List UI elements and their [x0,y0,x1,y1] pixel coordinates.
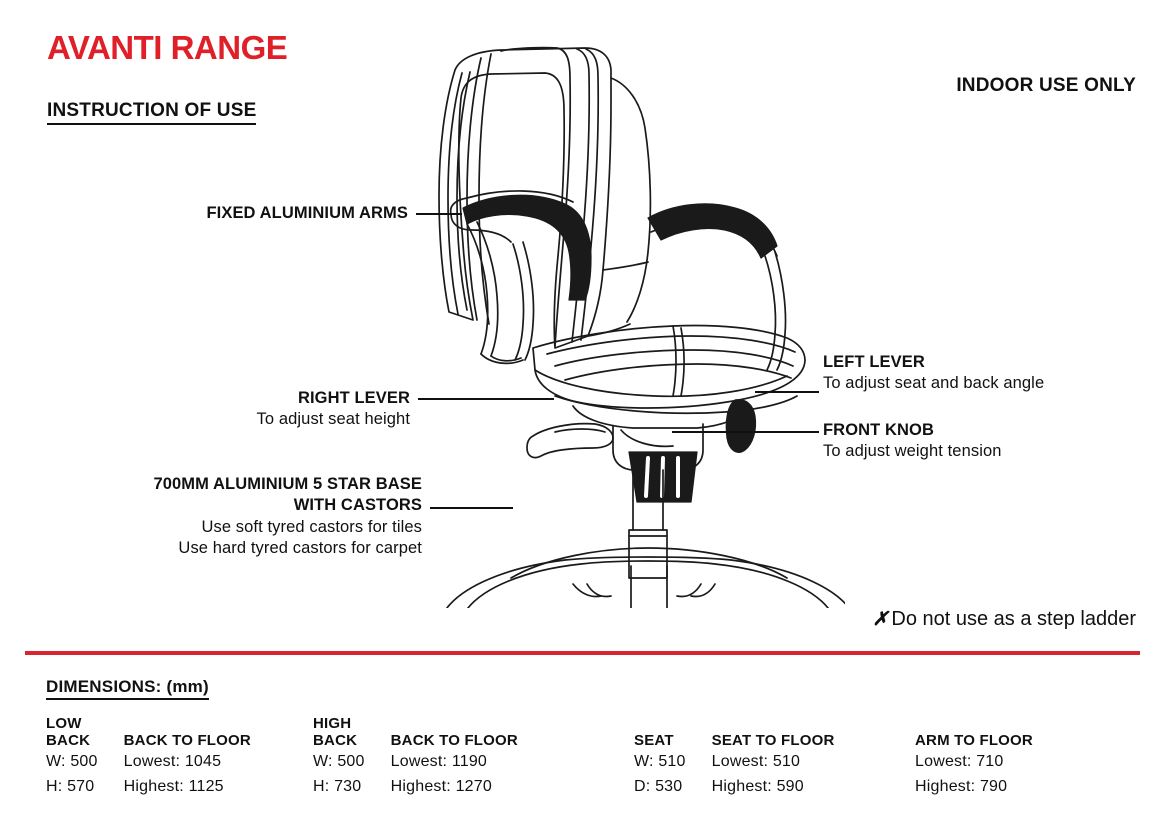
knob-rib-1 [646,458,648,496]
seat-cushion-seam-top [547,336,795,354]
callout-base-description-line1: Use soft tyred castors for tiles [0,517,422,538]
callout-arms-label: FIXED ALUMINIUM ARMS [0,203,408,224]
dimension-key: Highest: [124,775,184,800]
dimension-value: 730 [334,778,361,795]
leader-line-right-lever [418,398,554,400]
dimension-value: 500 [337,753,364,770]
dimension-col-seat-to-floor: SEAT TO FLOOR Lowest: 510 Highest: 590 [712,716,835,800]
dimension-value-row: Highest: 590 [712,775,835,800]
arm-support-right-inner [775,252,786,370]
leader-line-base [430,507,513,509]
callout-left-lever-label: LEFT LEVER [823,352,1044,373]
leader-line-arms [416,213,462,215]
dimension-col-high-back-primary: HIGH BACK W: 500 H: 730 [313,716,365,800]
instruction-sheet: AVANTI RANGE INSTRUCTION OF USE INDOOR U… [0,0,1166,815]
dimension-value: 1190 [452,753,487,770]
dimension-sub-heading: BACK TO FLOOR [391,716,518,750]
callout-left-lever: LEFT LEVER To adjust seat and back angle [823,352,1044,395]
dimension-value: 1270 [456,778,492,795]
dimension-key: H: [46,775,62,800]
dimension-value: 570 [67,778,94,795]
leader-line-left-lever [755,391,819,393]
section-divider [25,651,1140,655]
dimension-sub-heading: SEAT TO FLOOR [712,716,835,750]
leader-line-front-knob [672,431,819,433]
dimension-key: D: [634,775,650,800]
dimensions-row: LOW BACK W: 500 H: 570 BACK TO FLOOR Low… [0,716,1166,806]
callout-base: 700MM ALUMINIUM 5 STAR BASE WITH CASTORS… [0,474,422,560]
dimension-col-arm-to-floor: ARM TO FLOOR Lowest: 710 Highest: 790 [915,716,1033,800]
dimension-key: Lowest: [124,750,181,775]
dimension-key: H: [313,775,329,800]
cross-mark-icon: ✗ [872,609,888,630]
dimension-value-row: Lowest: 1045 [124,750,251,775]
seat-cushion-seam-low [565,364,791,380]
dimension-value: 510 [658,753,685,770]
mechanism-housing-detail [621,430,673,446]
dimension-heading: LOW BACK [46,716,98,750]
dimension-key: Lowest: [712,750,769,775]
callout-right-lever-description: To adjust seat height [0,409,410,430]
dimension-key: W: [634,750,654,775]
dimension-group-arm-to-floor: ARM TO FLOOR Lowest: 710 Highest: 790 [915,716,1033,800]
dimension-value: 500 [70,753,97,770]
dimension-value-row: W: 500 [313,750,365,775]
callout-base-label-line2: WITH CASTORS [0,495,422,516]
dimension-col-seat-primary: SEAT W: 510 D: 530 [634,716,686,800]
arm-support-left-front-inner [523,242,534,360]
base-top-arc [511,548,787,578]
dimension-key: Lowest: [391,750,448,775]
callout-front-knob-description: To adjust weight tension [823,441,1002,462]
dimension-value: 790 [980,778,1007,795]
dimension-value: 1125 [189,778,224,795]
dimension-value-row: D: 530 [634,775,686,800]
page-title: AVANTI RANGE [47,29,287,67]
dimension-key: Highest: [391,775,451,800]
dimension-group-high-back: HIGH BACK W: 500 H: 730 BACK TO FLOOR Lo… [313,716,518,800]
dimension-value: 590 [777,778,804,795]
backrest-lower-seam [603,262,648,270]
base-centre-leg [631,566,667,608]
step-ladder-warning: ✗Do not use as a step ladder [872,608,1136,631]
base-right-rib-b [691,584,715,597]
gas-lift-lower-sleeve [629,530,667,578]
section-subtitle: INSTRUCTION OF USE [47,100,256,125]
dimension-heading: SEAT [634,716,686,750]
callout-front-knob-label: FRONT KNOB [823,420,1002,441]
callout-right-lever-label: RIGHT LEVER [0,388,410,409]
dimension-value-row: Lowest: 510 [712,750,835,775]
office-chair-diagram [405,18,845,608]
dimension-key: W: [313,750,333,775]
callout-right-lever: RIGHT LEVER To adjust seat height [0,388,410,431]
dimension-heading: HIGH BACK [313,716,365,750]
dimension-value: 510 [773,753,800,770]
dimension-key: Highest: [915,775,975,800]
callout-base-description-line2: Use hard tyred castors for carpet [0,538,422,559]
dimension-key: Highest: [712,775,772,800]
dimension-col-low-back-to-floor: BACK TO FLOOR Lowest: 1045 Highest: 1125 [124,716,251,800]
dimension-value-row: H: 570 [46,775,98,800]
dimension-value-row: W: 510 [634,750,686,775]
dimension-col-high-back-to-floor: BACK TO FLOOR Lowest: 1190 Highest: 1270 [391,716,518,800]
base-front-arc-outer [441,557,845,608]
dimension-group-seat: SEAT W: 510 D: 530 SEAT TO FLOOR Lowest:… [634,716,835,800]
dimension-key: Lowest: [915,750,972,775]
armrest-pad-left [463,195,591,300]
backrest-seam-left-d [479,54,491,324]
dimension-value-row: W: 500 [46,750,98,775]
dimensions-title: DIMENSIONS: (mm) [46,677,209,700]
indoor-use-note: INDOOR USE ONLY [956,75,1136,97]
dimension-sub-heading: ARM TO FLOOR [915,716,1033,750]
dimension-value-row: Lowest: 1190 [391,750,518,775]
arm-support-right-outer [765,256,776,370]
lever-right-detail [555,429,605,432]
callout-left-lever-description: To adjust seat and back angle [823,373,1044,394]
arm-support-left-front [513,244,524,360]
callout-fixed-aluminium-arms: FIXED ALUMINIUM ARMS [0,203,408,224]
base-right-rib [677,584,701,597]
base-left-rib-b [587,584,611,597]
dimension-value-row: Highest: 1125 [124,775,251,800]
dimension-key: W: [46,750,66,775]
dimension-group-low-back: LOW BACK W: 500 H: 570 BACK TO FLOOR Low… [46,716,251,800]
seat-underside-edge [555,396,797,413]
dimension-value: 710 [976,753,1003,770]
dimension-value-row: Highest: 790 [915,775,1033,800]
dimension-value-row: Highest: 1270 [391,775,518,800]
dimension-sub-heading: BACK TO FLOOR [124,716,251,750]
callout-front-knob: FRONT KNOB To adjust weight tension [823,420,1002,463]
dimension-value: 530 [655,778,682,795]
lever-left-back-angle [726,400,755,453]
dimension-value: 1045 [185,753,221,770]
seat-front-edge [535,370,787,396]
callout-base-label-line1: 700MM ALUMINIUM 5 STAR BASE [0,474,422,495]
seat-centre-line-b [681,328,684,396]
dimension-value-row: Lowest: 710 [915,750,1033,775]
dimension-col-low-back-primary: LOW BACK W: 500 H: 570 [46,716,98,800]
backrest-right-wing [611,78,650,322]
step-ladder-warning-text: Do not use as a step ladder [891,608,1136,630]
dimension-value-row: H: 730 [313,775,365,800]
